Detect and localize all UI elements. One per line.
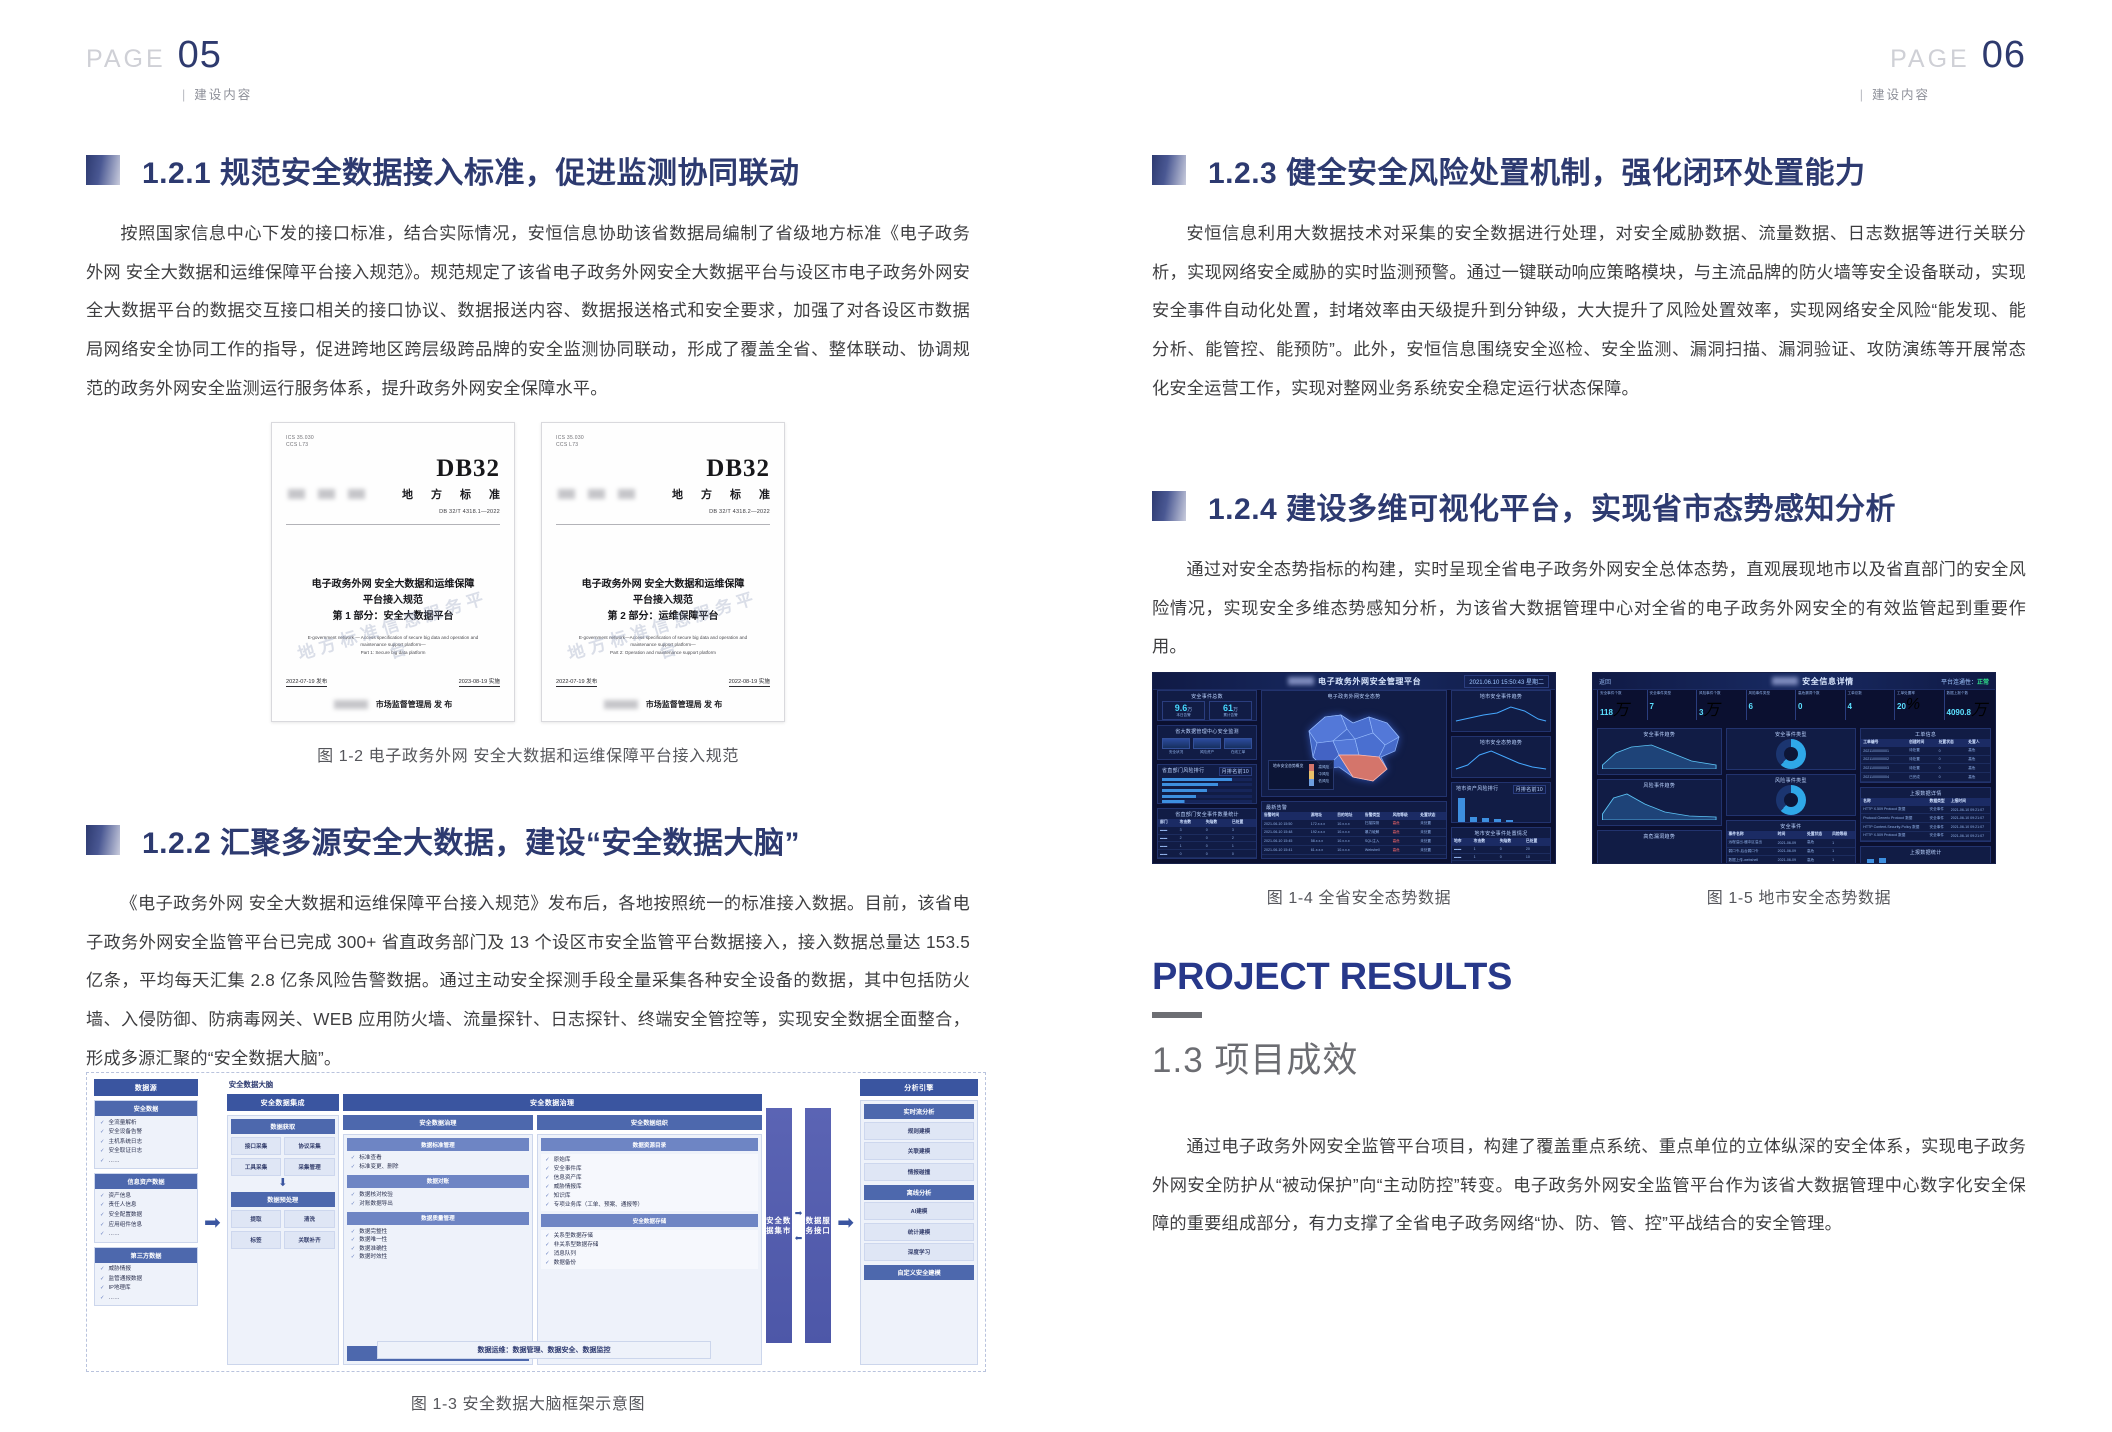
area-chart-event-trend [1598,739,1721,769]
table-row: HTTP Content-Security-Policy 数据安全事件2021-… [1861,823,1990,832]
col-header: 事件名称 [1727,831,1776,839]
chip: 工具采集 [231,1158,282,1176]
db32-code-part1: DB 32/T 4318.1—2022 [286,509,500,515]
list-item: 数据准确性 [351,1246,525,1253]
page-subtitle: |建设内容 [1860,84,2026,103]
list-item: 数据核对校验 [351,1192,525,1199]
table-header-row: 名称 数据类型 上报时间 [1861,798,1990,806]
legend-title: 地市安全态势概览 [1273,764,1303,786]
flow-arrow-down-icon: ⬇ [231,1179,335,1189]
figure-1-3: 数据源 安全数据 全流量解析 安全设备告警 主机系统日志 安全取证日志 …… 信… [86,1072,970,1414]
panel-title: 地市安全态势趋势 [1452,737,1550,747]
figure-caption-1-3: 图 1-3 安全数据大脑框架示意图 [86,1390,970,1414]
page-subtitle-bar: | [182,88,187,102]
kpi-block: 安全事件类型7 [1647,690,1695,720]
panel-title: 高危漏洞趋势 [1598,831,1721,841]
db32-ics-part1: ICS 35.030 [286,435,500,442]
dept-stats-table: 部门 攻击数 失陷数 已处置 ▬▬303 ▬▬202 ▬▬101 ▬▬000 [1158,819,1256,858]
section-heading-1-2-1: 1.2.1 规范安全数据接入标准，促进监测协同联动 [86,148,970,192]
table-row: HTTP X.509 Protocol 数据安全事件2021-06-10 09:… [1861,806,1990,814]
legend-text: 高风险中风险低风险 [1318,764,1329,786]
chip: 协议采集 [284,1137,335,1155]
col-header: 告警类型 [1363,812,1391,820]
section-marker-icon [86,155,120,185]
db32-footer-part2: 市场监督管理局 发 布 [542,699,784,710]
chip: 标签 [231,1231,282,1249]
panel-title: 地市安全事件趋势 [1452,691,1550,701]
panel-filter[interactable]: 月排名前10 [1513,785,1546,794]
table-row: 2021-06-10 15:4558.x.x.x10.x.x.xSQL注入高危未… [1262,837,1446,846]
db32-footer-text-part1: 市场监督管理局 发 布 [376,699,452,710]
table-header-row: 工单编号 创建时间 处置状态 处置人 [1861,739,1990,747]
bar [1482,818,1489,822]
ranking-bar [1162,778,1252,781]
flow-arrow-icon: ➡ [837,1210,854,1235]
ranking-bar [1162,795,1252,798]
col-header: 攻击数 [1472,838,1498,846]
diagram-group-security-data: 安全数据 全流量解析 安全设备告警 主机系统日志 安全取证日志 …… [94,1100,198,1169]
dashboard-province-title: 电子政务外网安全管理平台 [1245,676,1464,687]
db32-ccs-part2: CCS L73 [556,442,770,449]
kpi-value: 118 [1600,708,1613,717]
page-header-right: PAGE 06 |建设内容 [1860,34,2026,98]
kpi-block: 工单总数4 [1845,690,1893,720]
db32-ccs-part1: CCS L73 [286,442,500,449]
panel-title: 省直部门安全事件数量统计 [1158,809,1256,819]
diagram-engine-custom: 自定义安全建模 [864,1265,974,1280]
handle-stats-table: 地市 攻击数 失陷数 已处置 ▬▬1020 ▬▬1010 ▬▬105 ▬▬000 [1452,838,1550,864]
chip: 情报碰撞 [864,1163,974,1181]
kpi-label: 风险事件类型 [1749,691,1792,696]
bar [1458,798,1465,822]
dashboard-province-center-col: 电子政务外网安全态势 [1261,690,1447,859]
list-item: 消息队列 [545,1251,754,1258]
section-paragraph-1-2-3: 安恒信息利用大数据技术对采集的安全数据进行处理，对安全威胁数据、流量数据、日志数… [1152,214,2026,408]
donut-chart-event-type [1776,739,1806,769]
diagram-integration-header: 安全数据集成 [227,1094,339,1111]
list-item: 非关系型数据存储 [545,1242,754,1249]
panel-title: 最新告警 [1262,802,1446,812]
redacted-org-name [1772,677,1798,685]
status-cell: 安全状况 [1162,738,1190,755]
chip: 深度学习 [864,1243,974,1261]
kpi-label: 风险事件个数 [1699,691,1742,696]
panel-map: 电子政务外网安全态势 [1261,690,1447,797]
db32-en-line1-part2: E-government network—Access specificatio… [564,634,762,642]
col-header: 处置状态 [1418,812,1446,820]
table-header-row: 事件名称 时间 处置状态 风险等级 [1727,831,1856,839]
table-row: 2021100000004已完成0高危 [1861,773,1990,782]
page-number: 06 [1982,34,2026,77]
panel-title: 上报数据统计 [1861,847,1990,857]
table-row: 弱口令-后台弱口令2021-06-09高危1 [1727,847,1856,856]
page-subtitle-text: 建设内容 [194,88,252,102]
panel-asset-ranking: 地市资产风险排行 月排名前10 [1451,782,1551,823]
db32-kind-part1: 地方标准 [402,486,500,502]
kpi-label: 工单总数 [1848,691,1891,696]
diagram-storage-items: 关系型数据存储 非关系型数据存储 消息队列 数据备份 [541,1230,758,1269]
kpi-value: 9.6 [1175,703,1188,713]
db32-ics-part2: ICS 35.030 [556,435,770,442]
figure-caption-1-5: 图 1-5 地市安全态势数据 [1592,884,2006,908]
section-title-1-2-3: 1.2.3 健全安全风险处置机制，强化闭环处置能力 [1208,148,1866,192]
city-col-right: 工单信息 工单编号 创建时间 处置状态 处置人 2021100 [1860,728,1991,859]
col-header: 名称 [1861,798,1927,806]
diagram-group-asset-data: 信息资产数据 资产信息 责任人信息 安全配置数据 应用组件信息 …… [94,1173,198,1242]
ranking-bar [1162,800,1252,803]
list-item: 资产信息 [100,1193,192,1200]
section-marker-icon [86,825,120,855]
list-item: 专项业务库（工单、预案、通报等） [545,1202,754,1209]
list-item: 知识库 [545,1193,754,1200]
kpi-label: 数据上报个数 [1947,691,1990,696]
kpi-value: 4 [1848,702,1852,711]
diagram-col-data-source: 数据源 安全数据 全流量解析 安全设备告警 主机系统日志 安全取证日志 …… 信… [94,1079,198,1365]
chip: 关联建模 [864,1142,974,1160]
col-header: 上报时间 [1949,798,1990,806]
page-subtitle-text: 建设内容 [1872,88,1930,102]
db32-brand-part2: DB32 [556,455,770,483]
diagram-col-engine: 分析引擎 实时流分析 规则建模 关联建模 情报碰撞 离线分析 [860,1079,978,1365]
db32-footer-redaction-part1 [334,700,368,709]
dashboard-province-body: 安全事件总数 9.6万 本日告警 61万 累计告警 [1157,690,1551,859]
db32-en-line3-part1: Part 1: Secure big data platform [294,649,492,657]
diagram-data-mart: 安全数据集市 [766,1108,792,1343]
bar [1470,817,1477,822]
db32-title-line2-part2: 平台接入规范 [556,593,770,609]
figure-1-5: 返回 安全信息详情 平台连通性：正常 安全事件个数118万 安全事件类型7 [1592,672,2006,908]
bar [1494,819,1501,822]
table-row: Protocol Generic Protocol 数据安全事件2021-06-… [1861,814,1990,823]
col-header: 源地址 [1309,812,1336,820]
col-header: 时间 [1776,831,1805,839]
list-item: …… [100,1231,192,1238]
db32-en-line3-part2: Part 2: Operation and maintenance suppor… [564,649,762,657]
chip: 提取 [231,1210,282,1228]
city-kpi-row: 安全事件个数118万 安全事件类型7 风险事件个数3万 风险事件类型6 高危漏洞… [1597,690,1991,720]
db32-dates-part2: 2022-07-19 发布 2022-08-19 实施 [556,677,770,687]
table-row: 数据上传-webshell2021-06-09高危1 [1727,856,1856,864]
city-col-left: 安全事件趋势 风险事件趋势 [1597,728,1722,859]
table-row: 2021-06-10 15:48192.x.x.x10.x.x.x暴力破解高危未… [1262,828,1446,837]
diagram-gov-block-items: 数据完整性 数据唯一性 数据准确性 数据时效性 [347,1227,529,1264]
panel-filter[interactable]: 月排名前10 [1219,767,1252,776]
page-header-left: PAGE 05 |建设内容 [86,34,252,98]
diagram-governance: 安全数据治理 数据标准管理 标准查看 标准变更、删除 数据对账 [343,1115,533,1365]
db32-footer-part1: 市场监督管理局 发 布 [272,699,514,710]
table-row: 2021-06-10 15:50172.x.x.x10.x.x.x扫描探测高危未… [1262,820,1446,828]
kpi-unit: 万 [1613,702,1629,719]
list-item: 威胁情报库 [545,1184,754,1191]
diagram-integration-body: 数据获取 接口采集 协议采集 工具采集 采集管理 ⬇ 数据预处理 [227,1115,339,1365]
list-item: 安全设备告警 [100,1129,192,1136]
kpi-label: 累计告警 [1211,713,1250,718]
db32-title-line2-part1: 平台接入规范 [286,593,500,609]
db32-footer-redaction-part2 [604,700,638,709]
col-header: 风险等级 [1391,812,1419,820]
chip: 接口采集 [231,1137,282,1155]
page-left: PAGE 05 |建设内容 1.2.1 规范安全数据接入标准，促进监测协同联动 … [0,0,1056,1432]
diagram-gov-block-title: 数据标准管理 [347,1138,529,1151]
kpi-label: 高危漏洞个数 [1798,691,1841,696]
diagram-governance-top-header: 安全数据治理 [343,1094,762,1111]
list-item: 安全事件库 [545,1166,754,1173]
db32-brand-part1: DB32 [286,455,500,483]
panel-trend-event: 地市安全事件趋势 [1451,690,1551,732]
list-item: 应用组件信息 [100,1222,192,1229]
diagram-gov-block-title: 数据质量管理 [347,1212,529,1225]
diagram-brain-header: 安全数据大脑 [227,1079,831,1090]
kpi-value: 7 [1650,702,1654,711]
back-button[interactable]: 返回 [1599,677,1685,686]
status-label: 风险资产 [1193,750,1221,755]
bar [1867,859,1874,864]
list-item: 数据完整性 [351,1229,525,1236]
diagram-acquire-header: 数据获取 [231,1119,335,1134]
ranking-bar [1162,783,1252,786]
col-header: 处置状态 [1805,831,1830,839]
col-header: 创建时间 [1907,739,1937,747]
table-header-row: 告警时间 源地址 目的地址 告警类型 风险等级 处置状态 [1262,812,1446,820]
figure-caption-1-4: 图 1-4 全省安全态势数据 [1152,884,1566,908]
diagram-catalog-title: 数据资源目录 [541,1138,758,1151]
db32-rule-part1 [286,524,500,525]
db32-footer-text-part2: 市场监督管理局 发 布 [646,699,722,710]
db32-title-part2: 电子政务外网 安全大数据和运维保障 平台接入规范 第 2 部分：运维保障平台 [556,577,770,625]
panel-title: 安全事件类型 [1727,729,1856,739]
panel-ticket-info: 工单信息 工单编号 创建时间 处置状态 处置人 2021100 [1860,728,1991,783]
dashboard-province-left-col: 安全事件总数 9.6万 本日告警 61万 累计告警 [1157,690,1257,859]
project-results-block: PROJECT RESULTS 1.3 项目成效 通过电子政务外网安全监管平台项… [1152,956,2026,1243]
kpi-value: 4090.8 [1947,708,1971,717]
status-label: 在线工单 [1224,750,1252,755]
panel-latest-alerts: 最新告警 告警时间 源地址 目的地址 告警类型 风险等级 处置状态 [1261,801,1447,859]
kpi-block: 数据上报个数4090.8万 [1944,690,1992,720]
panel-risk-type: 风险事件类型 [1726,774,1857,816]
table-row: 2021100000001待处置0高危 [1861,747,1990,755]
diagram-engine-group-offline: 离线分析 AI建模 统计建模 深度学习 [864,1185,974,1262]
section-1-2-4: 1.2.4 建设多维可视化平台，实现省市态势感知分析 通过对安全态势指标的构建，… [1152,484,2026,666]
donut-chart-risk-type [1776,785,1806,815]
kpi-value: 20 [1897,702,1906,711]
line-chart-vuln-trend [1598,841,1721,864]
panel-title: 省大数据管理中心安全监测 [1158,726,1256,736]
event-list-table: 事件名称 时间 处置状态 风险等级 远程溢出-缓冲区溢出2021-06-09高危… [1727,831,1856,864]
diagram-block-integration: 安全数据集成 数据获取 接口采集 协议采集 工具采集 采集管理 ⬇ [227,1094,339,1365]
dashboard-city-title: 安全信息详情 [1685,676,1941,687]
section-heading-1-2-2: 1.2.2 汇聚多源安全大数据，建设“安全数据大脑” [86,818,970,862]
diagram-org-header: 安全数据组织 [537,1115,762,1130]
platform-status: 平台连通性：正常 [1941,677,1989,686]
db32-english-part1: E-government network — Access specificat… [286,634,500,657]
bar-chart-asset-ranking [1452,796,1550,822]
list-item: 监管通报数据 [100,1276,192,1283]
ranking-bars [1158,778,1256,803]
panel-event-list: 安全事件 事件名称 时间 处置状态 风险等级 远程溢出-缓冲区 [1726,820,1857,864]
table-row: 2021100000003待处置0高危 [1861,764,1990,773]
panel-title: 风险事件类型 [1727,775,1856,785]
diagram-engine-group-title: 实时流分析 [864,1104,974,1119]
dashboard-timestamp: 2021.06.10 15:50:43 星期二 [1464,675,1549,688]
panel-event-trend: 安全事件趋势 [1597,728,1722,775]
panel-title: 风险事件趋势 [1598,780,1721,790]
table-row: ▬▬101 [1158,842,1256,850]
panel-title: 上报数据详情 [1861,788,1990,798]
db32-kindrow-part1: 地方标准 [286,486,500,502]
kpi-block: 风险事件个数3万 [1696,690,1744,720]
diagram-org-body: 数据资源目录 原始库 安全事件库 信息资产库 威胁情报库 知识库 专项业务库（工… [537,1134,762,1365]
kpi-value: 0 [1798,702,1802,711]
document-spread: PAGE 05 |建设内容 1.2.1 规范安全数据接入标准，促进监测协同联动 … [0,0,2112,1432]
col-header: 部门 [1158,819,1178,827]
dashboard-title-text: 电子政务外网安全管理平台 [1318,676,1421,687]
col-header: 数据类型 [1928,798,1949,806]
status-label: 安全状况 [1162,750,1190,755]
section-1-2-3: 1.2.3 健全安全风险处置机制，强化闭环处置能力 安恒信息利用大数据技术对采集… [1152,148,2026,408]
db32-document-part1: ICS 35.030 CCS L73 DB32 地方标准 DB 32/T 431… [271,422,515,722]
diagram-gov-block-items: 数据核对校验 对账数据导出 [347,1190,529,1210]
diagram-governance-header: 安全数据治理 [343,1115,533,1130]
panel-title: 电子政务外网安全态势 [1262,691,1446,701]
diagram-group-title: 安全数据 [95,1101,197,1116]
dashboard-province-topbar: 电子政务外网安全管理平台 2021.06.10 15:50:43 星期二 [1153,673,1555,690]
kpi-label: 本日告警 [1164,713,1203,718]
bar-chart-report-stats [1861,857,1990,864]
diagram-governance-body: 数据标准管理 标准查看 标准变更、删除 数据对账 数据核对校验 [343,1134,533,1365]
db32-title-part1: 电子政务外网 安全大数据和运维保障 平台接入规范 第 1 部分：安全大数据平台 [286,577,500,625]
chip: 清洗 [284,1210,335,1228]
table-row: ▬▬1010 [1452,853,1550,861]
panel-event-type: 安全事件类型 [1726,728,1857,770]
diagram-engine-header: 分析引擎 [860,1079,978,1096]
figure-row-dashboards: 电子政务外网安全管理平台 2021.06.10 15:50:43 星期二 安全事… [1152,672,2026,908]
section-title-1-2-4: 1.2.4 建设多维可视化平台，实现省市态势感知分析 [1208,484,1896,528]
db32-issue-date-part2: 2022-07-19 发布 [556,677,597,687]
bar [1879,858,1886,864]
status-cell: 在线工单 [1224,738,1252,755]
db32-en-line2-part1: maintenance support platform— [294,641,492,649]
list-item: …… [100,1295,192,1302]
diagram-organization: 安全数据组织 数据资源目录 原始库 安全事件库 信息资产库 威胁情报库 [537,1115,762,1365]
security-data-brain-diagram: 数据源 安全数据 全流量解析 安全设备告警 主机系统日志 安全取证日志 …… 信… [86,1072,986,1372]
panel-title: 安全事件 [1727,821,1856,831]
diagram-gov-block-title: 数据对账 [347,1175,529,1188]
db32-document-row: ICS 35.030 CCS L73 DB32 地方标准 DB 32/T 431… [86,422,970,722]
project-results-paragraph: 通过电子政务外网安全监管平台项目，构建了覆盖重点系统、重点单位的立体纵深的安全体… [1152,1127,2026,1243]
kpi-label: 安全事件个数 [1600,691,1643,696]
section-heading-1-2-4: 1.2.4 建设多维可视化平台，实现省市态势感知分析 [1152,484,2026,528]
panel-risk-trend: 风险事件趋势 [1597,779,1722,826]
list-item: 数据时效性 [351,1254,525,1261]
list-item: 关系型数据存储 [545,1233,754,1240]
page-subtitle-bar: | [1860,88,1865,102]
chip: 统计建模 [864,1223,974,1241]
table-row: 远程溢出-缓冲区溢出2021-06-09高危1 [1727,839,1856,847]
diagram-service-api: 数据服务接口 [805,1108,831,1343]
status-label: 平台连通性： [1941,680,1977,686]
db32-issue-date-part1: 2022-07-19 发布 [286,677,327,687]
diagram-group-title: 第三方数据 [95,1248,197,1263]
col-header: 告警时间 [1262,812,1309,820]
panel-report-detail: 上报数据详情 名称 数据类型 上报时间 HTTP X.509 Protocol … [1860,787,1991,842]
city-col-mid: 安全事件类型 风险事件类型 [1726,728,1857,859]
diagram-group-items: 威胁情报 监管通报数据 IP地理库 …… [95,1263,197,1306]
db32-en-line1-part1: E-government network — Access specificat… [294,634,492,642]
diagram-group-title: 信息资产数据 [95,1174,197,1189]
panel-center-status: 省大数据管理中心安全监测 安全状况 风险资产 [1157,725,1257,760]
list-item: 主机系统日志 [100,1139,192,1146]
map-legend: 地市安全态势概览 高风险中风险低风险 [1268,760,1334,790]
panel-title: 工单信息 [1861,729,1990,739]
panel-event-total: 安全事件总数 9.6万 本日告警 61万 累计告警 [1157,690,1257,721]
table-header-row: 地市 攻击数 失陷数 已处置 [1452,838,1550,846]
db32-title-line3-part2: 第 2 部分：运维保障平台 [556,609,770,625]
db32-code-part2: DB 32/T 4318.2—2022 [556,509,770,515]
list-item: 标准查看 [351,1155,525,1162]
section-title-1-2-2: 1.2.2 汇聚多源安全大数据，建设“安全数据大脑” [142,818,800,862]
table-row: 2021100000002待处置0高危 [1861,755,1990,764]
section-1-2-1: 1.2.1 规范安全数据接入标准，促进监测协同联动 按照国家信息中心下发的接口标… [86,148,970,408]
dashboard-province: 电子政务外网安全管理平台 2021.06.10 15:50:43 星期二 安全事… [1152,672,1556,864]
city-panel-grid: 安全事件趋势 风险事件趋势 [1597,728,1991,859]
dashboard-city-body: 安全事件个数118万 安全事件类型7 风险事件个数3万 风险事件类型6 高危漏洞… [1597,690,1991,859]
panel-trend-risk: 地市安全态势趋势 [1451,736,1551,778]
table-row: ▬▬202 [1158,834,1256,842]
diagram-col-brain: 安全数据大脑 安全数据集成 数据获取 接口采集 协议采集 工具采集 [227,1079,831,1365]
db32-document-part2: ICS 35.030 CCS L73 DB32 地方标准 DB 32/T 431… [541,422,785,722]
db32-title-line1-part1: 电子政务外网 安全大数据和运维保障 [286,577,500,593]
dashboard-city: 返回 安全信息详情 平台连通性：正常 安全事件个数118万 安全事件类型7 [1592,672,1996,864]
col-header: 目的地址 [1335,812,1363,820]
db32-effect-date-part1: 2023-08-19 实施 [459,677,500,687]
section-1-2-2: 1.2.2 汇聚多源安全大数据，建设“安全数据大脑” 《电子政务外网 安全大数据… [86,818,970,1078]
list-item: 信息资产库 [545,1175,754,1182]
db32-redacted-region-part2 [558,489,635,499]
arrow-right-icon: ➡ [795,1208,803,1219]
list-item: 安全配置数据 [100,1212,192,1219]
col-header: 攻击数 [1178,819,1204,827]
project-results-cn-title: 1.3 项目成效 [1152,1032,2026,1083]
panel-title: 地市安全事件处置情况 [1452,828,1550,838]
arrow-left-icon: ⬅ [795,1233,803,1244]
section-paragraph-1-2-4: 通过对安全态势指标的构建，实时呈现全省电子政务外网安全总体态势，直观展现地市以及… [1152,550,2026,666]
table-row: 2021-06-10 15:4161.x.x.x10.x.x.xWebshell… [1262,846,1446,855]
col-header: 失陷数 [1204,819,1230,827]
list-item: 责任人信息 [100,1202,192,1209]
redacted-org-name [1288,677,1314,685]
diagram-group-items: 全流量解析 安全设备告警 主机系统日志 安全取证日志 …… [95,1116,197,1168]
section-title-1-2-1: 1.2.1 规范安全数据接入标准，促进监测协同联动 [142,148,800,192]
db32-title-line3-part1: 第 1 部分：安全大数据平台 [286,609,500,625]
bar [1506,820,1513,822]
project-results-divider [1152,1012,1202,1018]
table-row: ▬▬303 [1158,827,1256,834]
col-header: 失陷数 [1498,838,1524,846]
table-header-row: 部门 攻击数 失陷数 已处置 [1158,819,1256,827]
kpi-value: 6 [1749,702,1753,711]
table-row: HTTP X.509 Protocol 数据安全事件2021-06-10 09:… [1861,832,1990,841]
line-chart-event-trend [1452,701,1550,727]
chip: 采集管理 [284,1158,335,1176]
dashboard-city-topbar: 返回 安全信息详情 平台连通性：正常 [1593,673,1995,690]
col-header: 已处置 [1524,838,1550,846]
kpi-block: 风险事件类型6 [1746,690,1794,720]
list-item: 数据唯一性 [351,1237,525,1244]
latest-alerts-table: 告警时间 源地址 目的地址 告警类型 风险等级 处置状态 2021-06-10 … [1262,812,1446,855]
figure-1-4: 电子政务外网安全管理平台 2021.06.10 15:50:43 星期二 安全事… [1152,672,1566,908]
db32-dates-part1: 2022-07-19 发布 2023-08-19 实施 [286,677,500,687]
dashboard-province-right-col: 地市安全事件趋势 地市安全态势趋势 [1451,690,1551,859]
